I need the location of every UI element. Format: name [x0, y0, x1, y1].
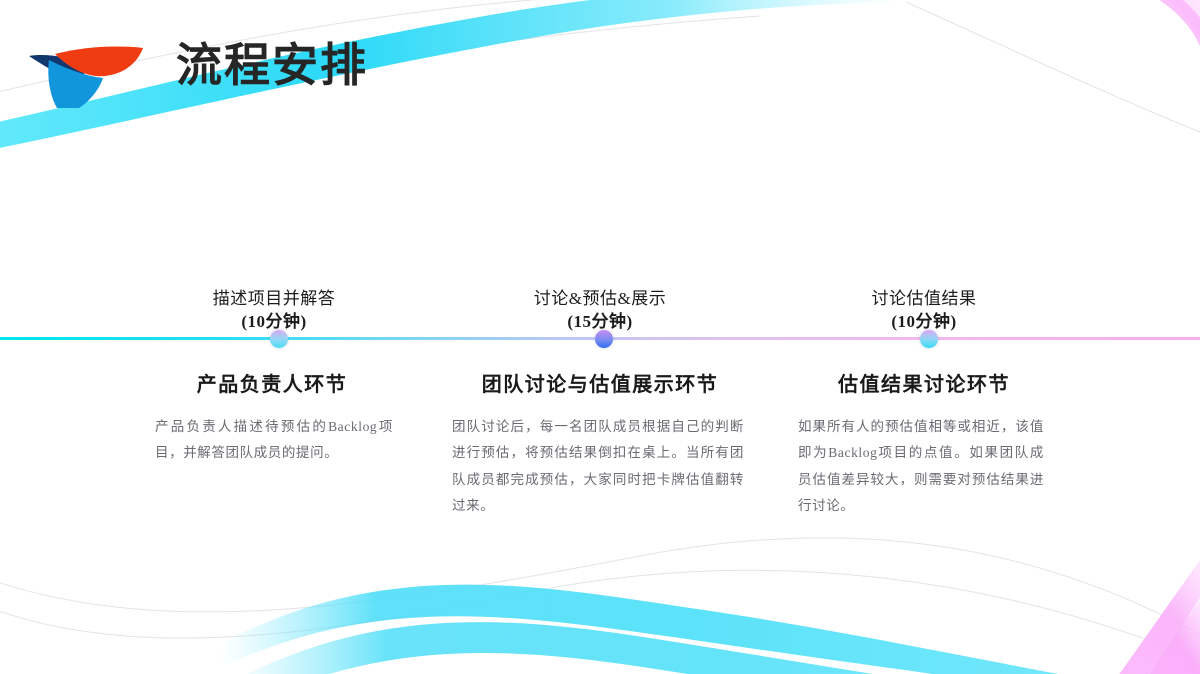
stage-1-duration: (10分钟) — [150, 311, 398, 334]
stage-3-heading: 估值结果讨论环节 — [798, 368, 1050, 397]
slide-root: 流程安排 描述项目并解答 (10分钟) 产品负责人环节 产品负责人描述待预估的B… — [0, 0, 1200, 674]
stage-1-body: 产品负责人描述待预估的Backlog项目，并解答团队成员的提问。 — [155, 414, 393, 467]
stage-3-top-label: 讨论估值结果 (10分钟) — [798, 288, 1050, 334]
stage-3-label-text: 讨论估值结果 — [798, 288, 1050, 311]
stage-1-heading: 产品负责人环节 — [148, 368, 396, 397]
stage-3-body: 如果所有人的预估值相等或相近，该值即为Backlog项目的点值。如果团队成员估值… — [798, 414, 1044, 519]
stage-3-duration: (10分钟) — [798, 311, 1050, 334]
stage-2-top-label: 讨论&预估&展示 (15分钟) — [452, 288, 748, 334]
stage-2-heading: 团队讨论与估值展示环节 — [452, 368, 748, 397]
stage-2-label-text: 讨论&预估&展示 — [452, 288, 748, 311]
stage-1-body-text: 产品负责人描述待预估的Backlog项目，并解答团队成员的提问。 — [155, 414, 393, 467]
stage-3-body-text: 如果所有人的预估值相等或相近，该值即为Backlog项目的点值。如果团队成员估值… — [798, 414, 1044, 519]
stage-2-duration: (15分钟) — [452, 311, 748, 334]
stage-1-top-label: 描述项目并解答 (10分钟) — [150, 288, 398, 334]
stage-1-label-text: 描述项目并解答 — [150, 288, 398, 311]
process-timeline: 描述项目并解答 (10分钟) 产品负责人环节 产品负责人描述待预估的Backlo… — [0, 0, 1200, 674]
stage-2-body-text: 团队讨论后，每一名团队成员根据自己的判断进行预估，将预估结果倒扣在桌上。当所有团… — [452, 414, 744, 519]
stage-2-body: 团队讨论后，每一名团队成员根据自己的判断进行预估，将预估结果倒扣在桌上。当所有团… — [452, 414, 744, 519]
